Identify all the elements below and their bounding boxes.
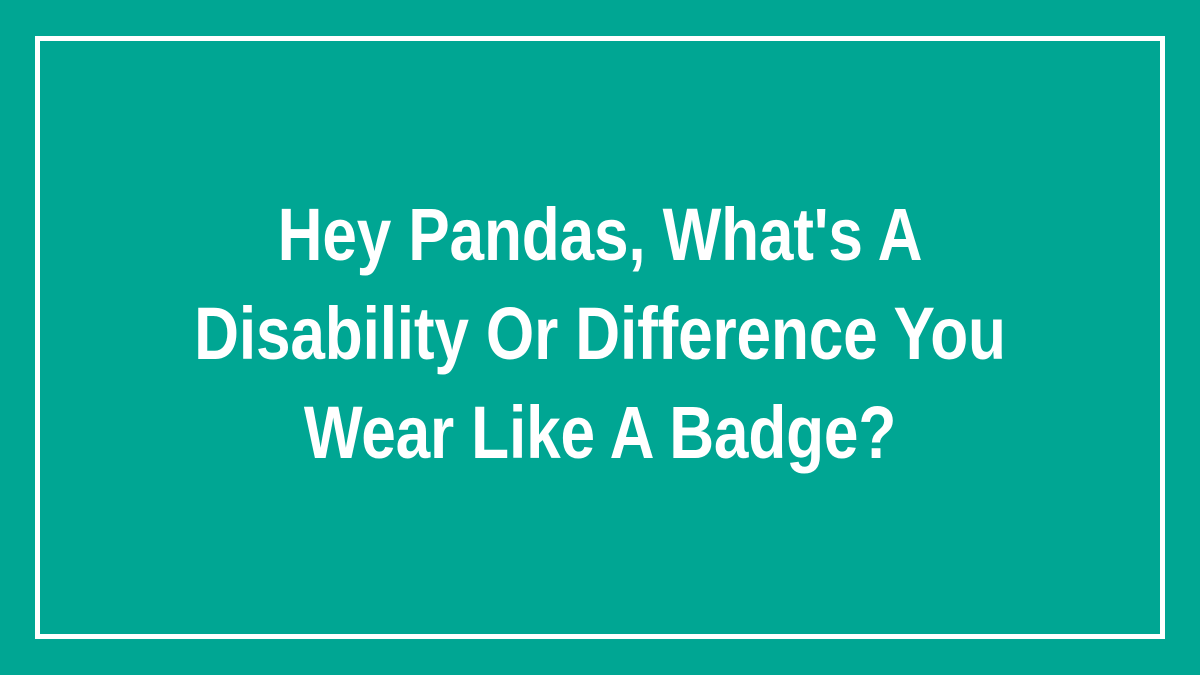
post-card-canvas: Hey Pandas, What's A Disability Or Diffe… <box>0 0 1200 675</box>
page-title: Hey Pandas, What's A Disability Or Diffe… <box>0 185 1200 482</box>
title-line-2: Disability Or Difference You <box>96 284 1104 383</box>
title-line-1: Hey Pandas, What's A <box>96 185 1104 284</box>
title-line-3: Wear Like A Badge? <box>96 383 1104 482</box>
